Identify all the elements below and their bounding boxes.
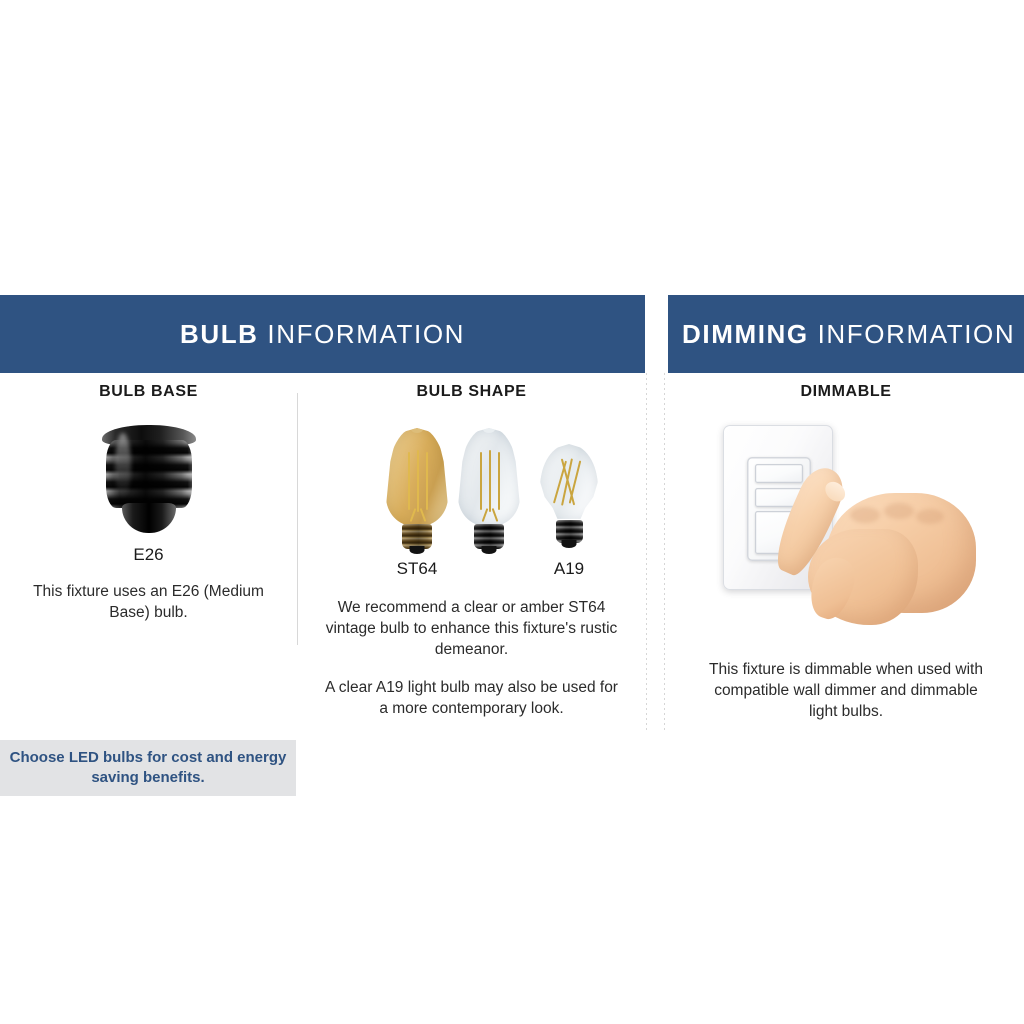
dimming-information-panel: DIMMING INFORMATION DIMMABLE (668, 295, 1024, 722)
a19-clear-glass (540, 444, 598, 543)
st64-amber-envelope (386, 428, 448, 526)
filament-wire (420, 508, 426, 522)
a19-clear-bulb-icon (540, 444, 598, 543)
panel-separator-left (646, 373, 647, 731)
bulb-base-title: BULB BASE (0, 383, 297, 401)
dimming-information-header-text: DIMMING INFORMATION (682, 319, 1015, 350)
bulb-cap-tip (482, 546, 497, 554)
bulb-information-header: BULB INFORMATION (0, 295, 645, 373)
filament-wire (410, 508, 416, 522)
bulb-header-light: INFORMATION (267, 319, 465, 349)
bulb-shape-paragraph-1: We recommend a clear or amber ST64 vinta… (320, 597, 623, 660)
st64-amber-tip (411, 425, 423, 433)
filament-wire (417, 450, 419, 512)
e26-tip (122, 503, 176, 533)
bulb-cap-tip (562, 540, 577, 548)
dimmable-title: DIMMABLE (668, 383, 1024, 401)
dimming-header-strong: DIMMING (682, 319, 809, 349)
hand-knuckle (916, 509, 944, 524)
st64-clear-glass (458, 428, 520, 549)
bulb-shape-column: BULB SHAPE (298, 373, 645, 719)
filament-wire (408, 452, 410, 510)
bulb-cap (556, 520, 583, 543)
filament-wire (498, 452, 500, 510)
bulb-information-body: BULB BASE E26 This fixture uses an E26 (… (0, 373, 645, 733)
a19-envelope (540, 444, 598, 522)
bulb-information-panel: BULB INFORMATION BULB BASE E26 This fixt… (0, 295, 645, 733)
bulb-information-header-text: BULB INFORMATION (180, 319, 465, 350)
led-callout-box: Choose LED bulbs for cost and energy sav… (0, 740, 296, 796)
dimming-information-body: DIMMABLE (668, 383, 1024, 722)
bulb-header-strong: BULB (180, 319, 259, 349)
bulb-cap-tip (410, 546, 425, 554)
dimming-header-light: INFORMATION (818, 319, 1016, 349)
bulb-shape-paragraph-2: A clear A19 light bulb may also be used … (320, 677, 623, 719)
bulb-shape-title: BULB SHAPE (298, 383, 645, 401)
bulb-base-image-wrap (0, 419, 297, 539)
bulb-shape-images (298, 409, 645, 549)
st64-clear-bulb-icon (458, 428, 520, 549)
hand-knuckle (850, 507, 880, 523)
wall-dimmer-switch-with-hand-icon (668, 415, 1024, 647)
bulb-cap (402, 524, 432, 549)
bulb-cap (474, 524, 504, 549)
st64-amber-glass (386, 428, 448, 549)
bulb-base-column: BULB BASE E26 This fixture uses an E26 (… (0, 373, 297, 623)
e26-screw-base-icon (99, 425, 199, 533)
st64-clear-tip (483, 425, 495, 433)
filament-wire (482, 508, 488, 522)
st64-clear-envelope (458, 428, 520, 526)
hand-fingertip (821, 478, 849, 506)
hand-icon (768, 451, 968, 641)
bulb-shape-paragraphs: We recommend a clear or amber ST64 vinta… (298, 597, 645, 719)
bulb-shape-labels: ST64 A19 (298, 559, 645, 585)
bulb-base-paragraph: This fixture uses an E26 (Medium Base) b… (0, 581, 297, 623)
e26-highlight (115, 433, 131, 499)
hand-knuckle (884, 503, 914, 519)
filament-wire (480, 452, 482, 510)
st64-amber-bulb-icon (386, 428, 448, 549)
filament-wire (489, 450, 491, 512)
filament-wire (426, 452, 428, 510)
filament-wire (492, 508, 498, 522)
bulb-shape-label-a19: A19 (541, 559, 597, 579)
led-callout-text: Choose LED bulbs for cost and energy sav… (0, 748, 296, 788)
dimming-paragraph: This fixture is dimmable when used with … (668, 659, 1024, 722)
dimming-information-header: DIMMING INFORMATION (668, 295, 1024, 373)
bulb-base-label: E26 (0, 545, 297, 565)
infographic-canvas: BULB INFORMATION BULB BASE E26 This fixt… (0, 0, 1024, 1024)
panel-separator-right (664, 373, 665, 731)
bulb-shape-label-st64: ST64 (387, 559, 447, 579)
